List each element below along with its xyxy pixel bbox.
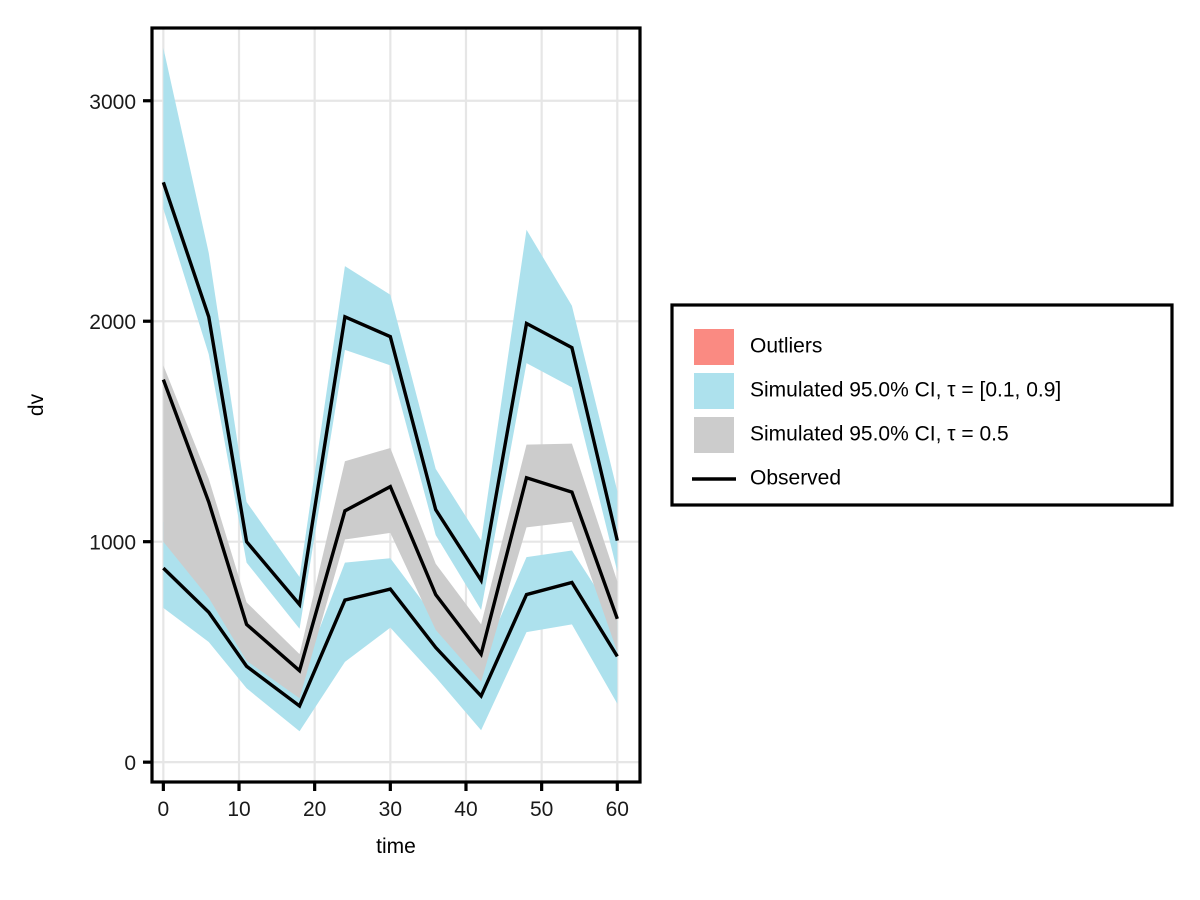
legend-swatch-icon: [694, 329, 734, 365]
y-tick-label: 1000: [89, 532, 136, 555]
legend-item-label: Outliers: [750, 335, 822, 358]
y-axis-title: dv: [25, 393, 48, 416]
legend-swatch-icon: [694, 417, 734, 453]
y-tick-label: 0: [124, 752, 136, 775]
chart-canvas: 01000200030000102030405060 time dv Outli…: [0, 0, 1200, 900]
chart-figure: 01000200030000102030405060 time dv Outli…: [0, 0, 1200, 900]
legend-swatch-icon: [694, 373, 734, 409]
x-tick-label: 20: [303, 798, 326, 821]
x-tick-label: 10: [227, 798, 250, 821]
legend: OutliersSimulated 95.0% CI, τ = [0.1, 0.…: [672, 305, 1172, 505]
y-tick-label: 2000: [89, 311, 136, 334]
x-tick-label: 50: [530, 798, 553, 821]
x-tick-label: 60: [606, 798, 629, 821]
legend-item-label: Simulated 95.0% CI, τ = [0.1, 0.9]: [750, 379, 1061, 402]
x-tick-label: 0: [158, 798, 170, 821]
x-axis-title: time: [376, 835, 416, 858]
legend-item-label: Observed: [750, 467, 841, 490]
x-tick-label: 30: [379, 798, 402, 821]
y-tick-label: 3000: [89, 91, 136, 114]
x-tick-label: 40: [454, 798, 477, 821]
legend-item-label: Simulated 95.0% CI, τ = 0.5: [750, 423, 1009, 446]
